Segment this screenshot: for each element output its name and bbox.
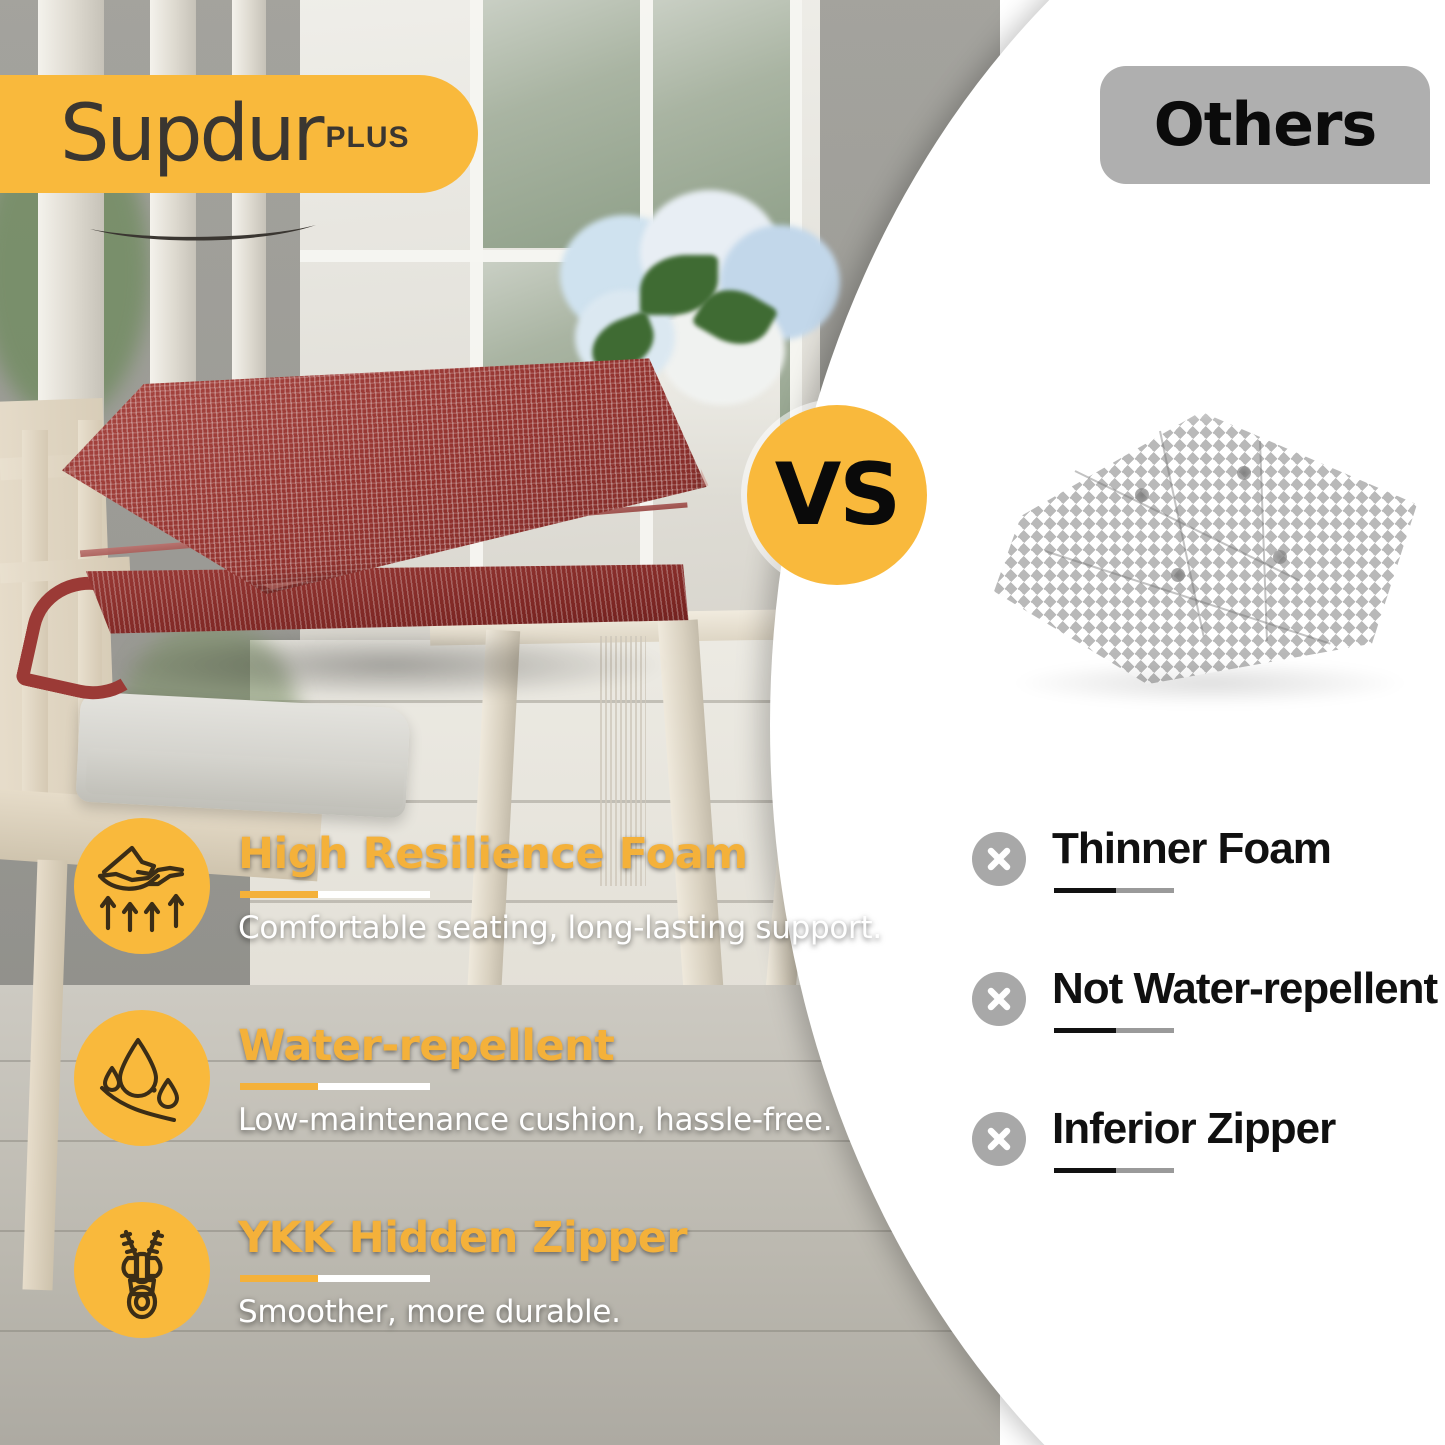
drawback-divider [1054, 1028, 1174, 1033]
circle-x-icon [972, 1112, 1026, 1166]
circle-x-icon [972, 832, 1026, 886]
drawback-divider [1054, 1168, 1174, 1173]
vs-label: VS [775, 445, 900, 545]
brand-logo-suffix: PLUS [325, 121, 409, 155]
feature-divider [240, 1275, 430, 1282]
drawback-text: Inferior Zipper [1052, 1106, 1335, 1173]
water-droplet-repel-icon [74, 1010, 210, 1146]
feature-item-water: Water-repellent Low-maintenance cushion,… [74, 1010, 832, 1146]
others-label: Others [1154, 90, 1376, 160]
drawback-title: Inferior Zipper [1052, 1106, 1335, 1152]
drawback-item-zipper: Inferior Zipper [972, 1106, 1335, 1173]
feature-text: YKK Hidden Zipper Smoother, more durable… [238, 1202, 687, 1330]
comparison-infographic: Supdur PLUS Others VS High [0, 0, 1445, 1445]
feature-subtitle: Comfortable seating, long-lasting suppor… [238, 910, 882, 946]
drawback-item-water: Not Water-repellent [972, 966, 1437, 1033]
feature-subtitle: Smoother, more durable. [238, 1294, 687, 1330]
other-cushion-body [985, 400, 1435, 690]
drawback-text: Not Water-repellent [1052, 966, 1437, 1033]
brand-swoosh-icon [88, 223, 318, 243]
door-glass-pane [483, 0, 640, 248]
porch-post [232, 0, 266, 420]
others-badge: Others [1100, 66, 1430, 184]
drawback-item-foam: Thinner Foam [972, 826, 1331, 893]
drawback-title: Not Water-repellent [1052, 966, 1437, 1012]
cushion-tuft [1171, 568, 1185, 582]
other-cushion-image [985, 400, 1435, 690]
drawback-title: Thinner Foam [1052, 826, 1331, 872]
feature-text: High Resilience Foam Comfortable seating… [238, 818, 882, 946]
drawback-divider [1054, 888, 1174, 893]
feature-divider [240, 1083, 430, 1090]
hand-support-arrows-icon [74, 818, 210, 954]
vs-badge: VS [747, 405, 927, 585]
circle-x-icon [972, 972, 1026, 1026]
feature-title: Water-repellent [238, 1024, 832, 1069]
cushion-tuft [1237, 466, 1251, 480]
zipper-icon [74, 1202, 210, 1338]
brand-logo-badge: Supdur PLUS [0, 75, 478, 193]
feature-text: Water-repellent Low-maintenance cushion,… [238, 1010, 832, 1138]
feature-item-foam: High Resilience Foam Comfortable seating… [74, 818, 882, 954]
feature-title: High Resilience Foam [238, 832, 882, 877]
feature-subtitle: Low-maintenance cushion, hassle-free. [238, 1102, 832, 1138]
cushion-tuft [1135, 488, 1149, 502]
feature-divider [240, 891, 430, 898]
drawback-text: Thinner Foam [1052, 826, 1331, 893]
porch-post [150, 0, 196, 430]
brand-logo-text: Supdur [60, 99, 321, 169]
supdur-cushion-image [44, 321, 733, 713]
feature-title: YKK Hidden Zipper [238, 1216, 687, 1261]
brand-logo-wordmark: Supdur PLUS [60, 99, 410, 169]
feature-item-zipper: YKK Hidden Zipper Smoother, more durable… [74, 1202, 687, 1338]
cushion-tuft [1273, 550, 1287, 564]
